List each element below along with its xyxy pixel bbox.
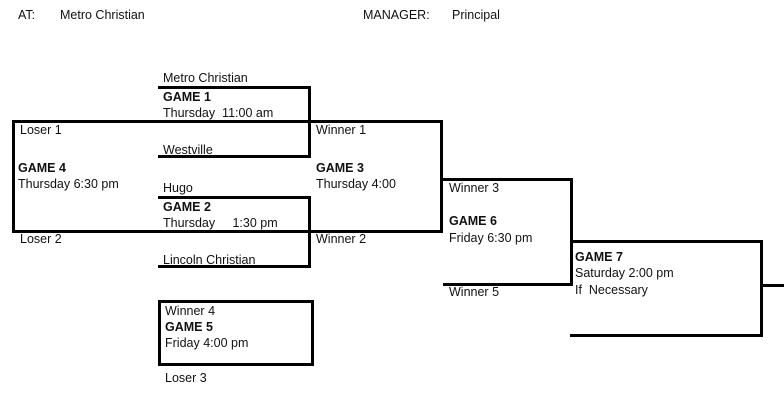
game7-box-bottom-line [570, 334, 763, 337]
game6-time: Friday 6:30 pm [449, 231, 532, 246]
game5-title: GAME 5 [165, 320, 213, 335]
game3-box-right-line [440, 120, 443, 233]
game2-time: Thursday 1:30 pm [163, 216, 278, 231]
game1-bottom-seed: Westville [163, 143, 213, 158]
game1-time: Thursday 11:00 am [163, 106, 273, 121]
game5-box-bottom-line [158, 363, 314, 366]
at-label: AT: [18, 8, 35, 23]
game5-box-left-line [158, 300, 161, 366]
game5-box-top-line [158, 300, 314, 303]
game7-box-top-line [570, 240, 763, 243]
game6-title: GAME 6 [449, 214, 497, 229]
game2-title: GAME 2 [163, 200, 211, 215]
game4-time: Thursday 6:30 pm [18, 177, 119, 192]
game5-box-right-line [311, 300, 314, 366]
game6-bottom-seed: Winner 5 [449, 285, 499, 300]
at-value: Metro Christian [60, 8, 145, 23]
game3-title: GAME 3 [316, 161, 364, 176]
game4-top-seed: Loser 1 [20, 123, 62, 138]
game7-box-right-line [760, 240, 763, 337]
game5-time: Friday 4:00 pm [165, 336, 248, 351]
game3-bottom-seed: Winner 2 [316, 232, 366, 247]
game2-top-seed: Hugo [163, 181, 193, 196]
bracket-page: AT: Metro Christian MANAGER: Principal L… [0, 0, 784, 405]
manager-label: MANAGER: [363, 8, 430, 23]
game6-box-right-line [570, 178, 573, 286]
game5-top-seed: Winner 4 [165, 304, 215, 319]
game3-time: Thursday 4:00 [316, 177, 396, 192]
game4-bottom-seed: Loser 2 [20, 232, 62, 247]
game7-note: If Necessary [575, 283, 648, 298]
game7-title: GAME 7 [575, 250, 623, 265]
game6-top-seed: Winner 3 [449, 181, 499, 196]
game7-champion-line [760, 284, 784, 287]
game2-bottom-seed: Lincoln Christian [163, 253, 255, 268]
game1-title: GAME 1 [163, 90, 211, 105]
game1-box-top-line [158, 86, 311, 89]
game5-bottom-seed: Loser 3 [165, 371, 207, 386]
game4-box-left-line [12, 120, 15, 233]
game4-title: GAME 4 [18, 161, 66, 176]
game1-top-seed: Metro Christian [163, 71, 248, 86]
game7-time: Saturday 2:00 pm [575, 266, 674, 281]
manager-value: Principal [452, 8, 500, 23]
game3-top-seed: Winner 1 [316, 123, 366, 138]
game2-box-top-line [158, 196, 311, 199]
